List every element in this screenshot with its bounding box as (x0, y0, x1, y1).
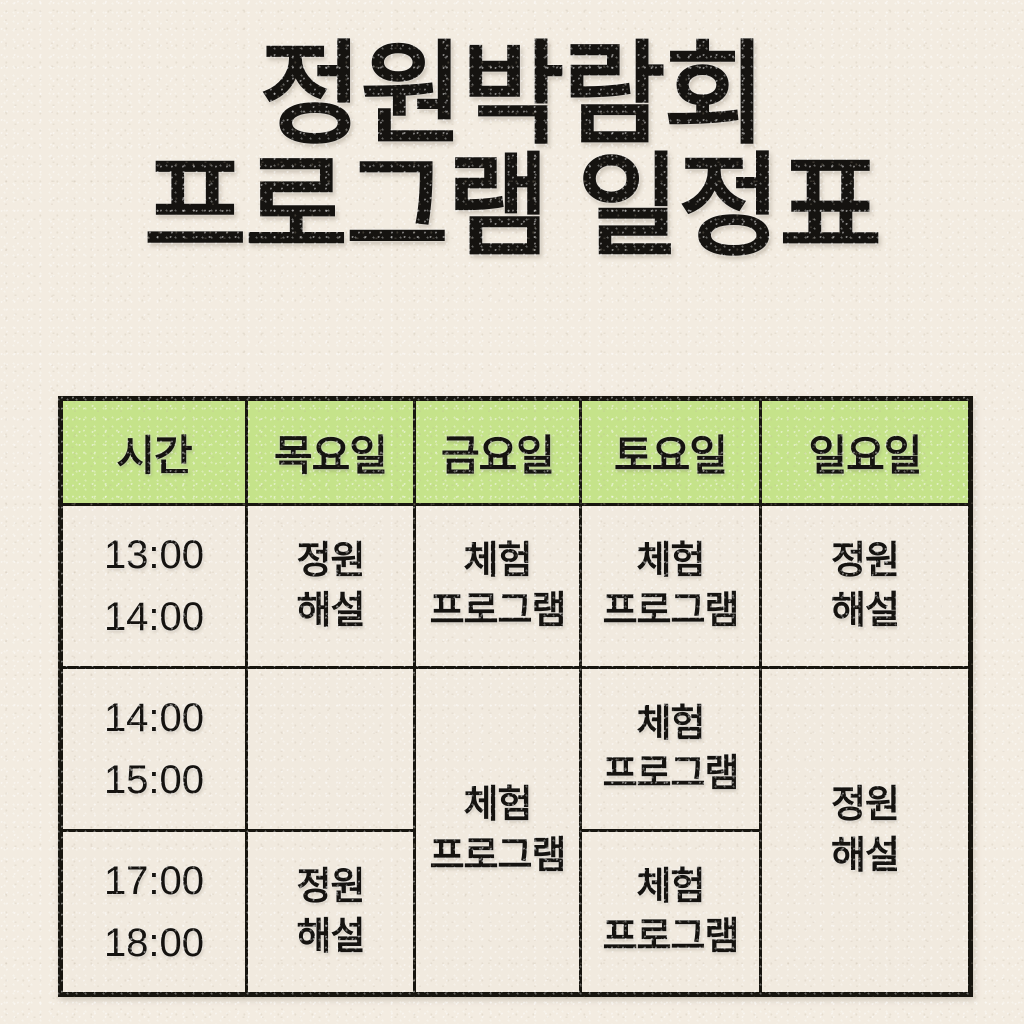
cell-thursday-slot-1-line1: 정원 (249, 536, 412, 586)
cell-thursday-slot-1: 정원 해설 (247, 505, 415, 668)
time-slot-3-end: 18:00 (64, 912, 244, 974)
cell-sunday-merged-line2: 해설 (763, 831, 967, 881)
cell-friday-slot-1: 체험 프로그램 (415, 505, 581, 668)
time-slot-2: 14:00 15:00 (61, 668, 247, 831)
cell-friday-merged-line2: 프로그램 (417, 831, 578, 881)
cell-friday-merged-line1: 체험 (417, 780, 578, 830)
cell-thursday-slot-3-line1: 정원 (249, 862, 412, 912)
cell-thursday-slot-3: 정원 해설 (247, 831, 415, 995)
cell-sunday-slot-1-line1: 정원 (763, 536, 967, 586)
time-slot-1-end: 14:00 (64, 586, 244, 648)
table-row: 14:00 15:00 체험 프로그램 체험 프로그램 정원 해설 (61, 668, 971, 831)
title-line-1: 정원박람회 (0, 36, 1024, 154)
time-slot-2-end: 15:00 (64, 749, 244, 811)
column-header-saturday: 토요일 (581, 399, 761, 505)
cell-saturday-slot-1-line1: 체험 (583, 536, 758, 586)
column-header-friday: 금요일 (415, 399, 581, 505)
cell-saturday-slot-1-line2: 프로그램 (583, 586, 758, 636)
column-header-time: 시간 (61, 399, 247, 505)
cell-sunday-slot-1-line2: 해설 (763, 586, 967, 636)
cell-thursday-slot-2-empty (247, 668, 415, 831)
cell-saturday-slot-2-line2: 프로그램 (583, 749, 758, 799)
cell-sunday-slot-2-3-merged: 정원 해설 (761, 668, 971, 995)
cell-friday-slot-2-3-merged: 체험 프로그램 (415, 668, 581, 995)
cell-saturday-slot-3-line1: 체험 (583, 862, 758, 912)
cell-sunday-merged-line1: 정원 (763, 780, 967, 830)
cell-saturday-slot-1: 체험 프로그램 (581, 505, 761, 668)
column-header-thursday: 목요일 (247, 399, 415, 505)
cell-saturday-slot-3: 체험 프로그램 (581, 831, 761, 995)
cell-sunday-slot-1: 정원 해설 (761, 505, 971, 668)
time-slot-1-start: 13:00 (64, 524, 244, 586)
schedule-table: 시간 목요일 금요일 토요일 일요일 13:00 14:00 정원 해설 (58, 396, 973, 997)
cell-friday-slot-1-line2: 프로그램 (417, 586, 578, 636)
page-title: 정원박람회 프로그램 일정표 (0, 36, 1024, 265)
table-header-row: 시간 목요일 금요일 토요일 일요일 (61, 399, 971, 505)
column-header-sunday: 일요일 (761, 399, 971, 505)
cell-saturday-slot-2: 체험 프로그램 (581, 668, 761, 831)
time-slot-3-start: 17:00 (64, 850, 244, 912)
cell-friday-slot-1-line1: 체험 (417, 536, 578, 586)
table-row: 13:00 14:00 정원 해설 체험 프로그램 체험 프로그램 (61, 505, 971, 668)
time-slot-1: 13:00 14:00 (61, 505, 247, 668)
cell-saturday-slot-3-line2: 프로그램 (583, 912, 758, 962)
poster-canvas: 정원박람회 프로그램 일정표 시간 목요일 금요일 토요일 일요일 (0, 0, 1024, 1024)
cell-saturday-slot-2-line1: 체험 (583, 699, 758, 749)
cell-thursday-slot-1-line2: 해설 (249, 586, 412, 636)
title-line-2: 프로그램 일정표 (0, 148, 1024, 266)
schedule-table-wrapper: 시간 목요일 금요일 토요일 일요일 13:00 14:00 정원 해설 (58, 396, 968, 997)
time-slot-2-start: 14:00 (64, 687, 244, 749)
cell-thursday-slot-3-line2: 해설 (249, 912, 412, 962)
time-slot-3: 17:00 18:00 (61, 831, 247, 995)
